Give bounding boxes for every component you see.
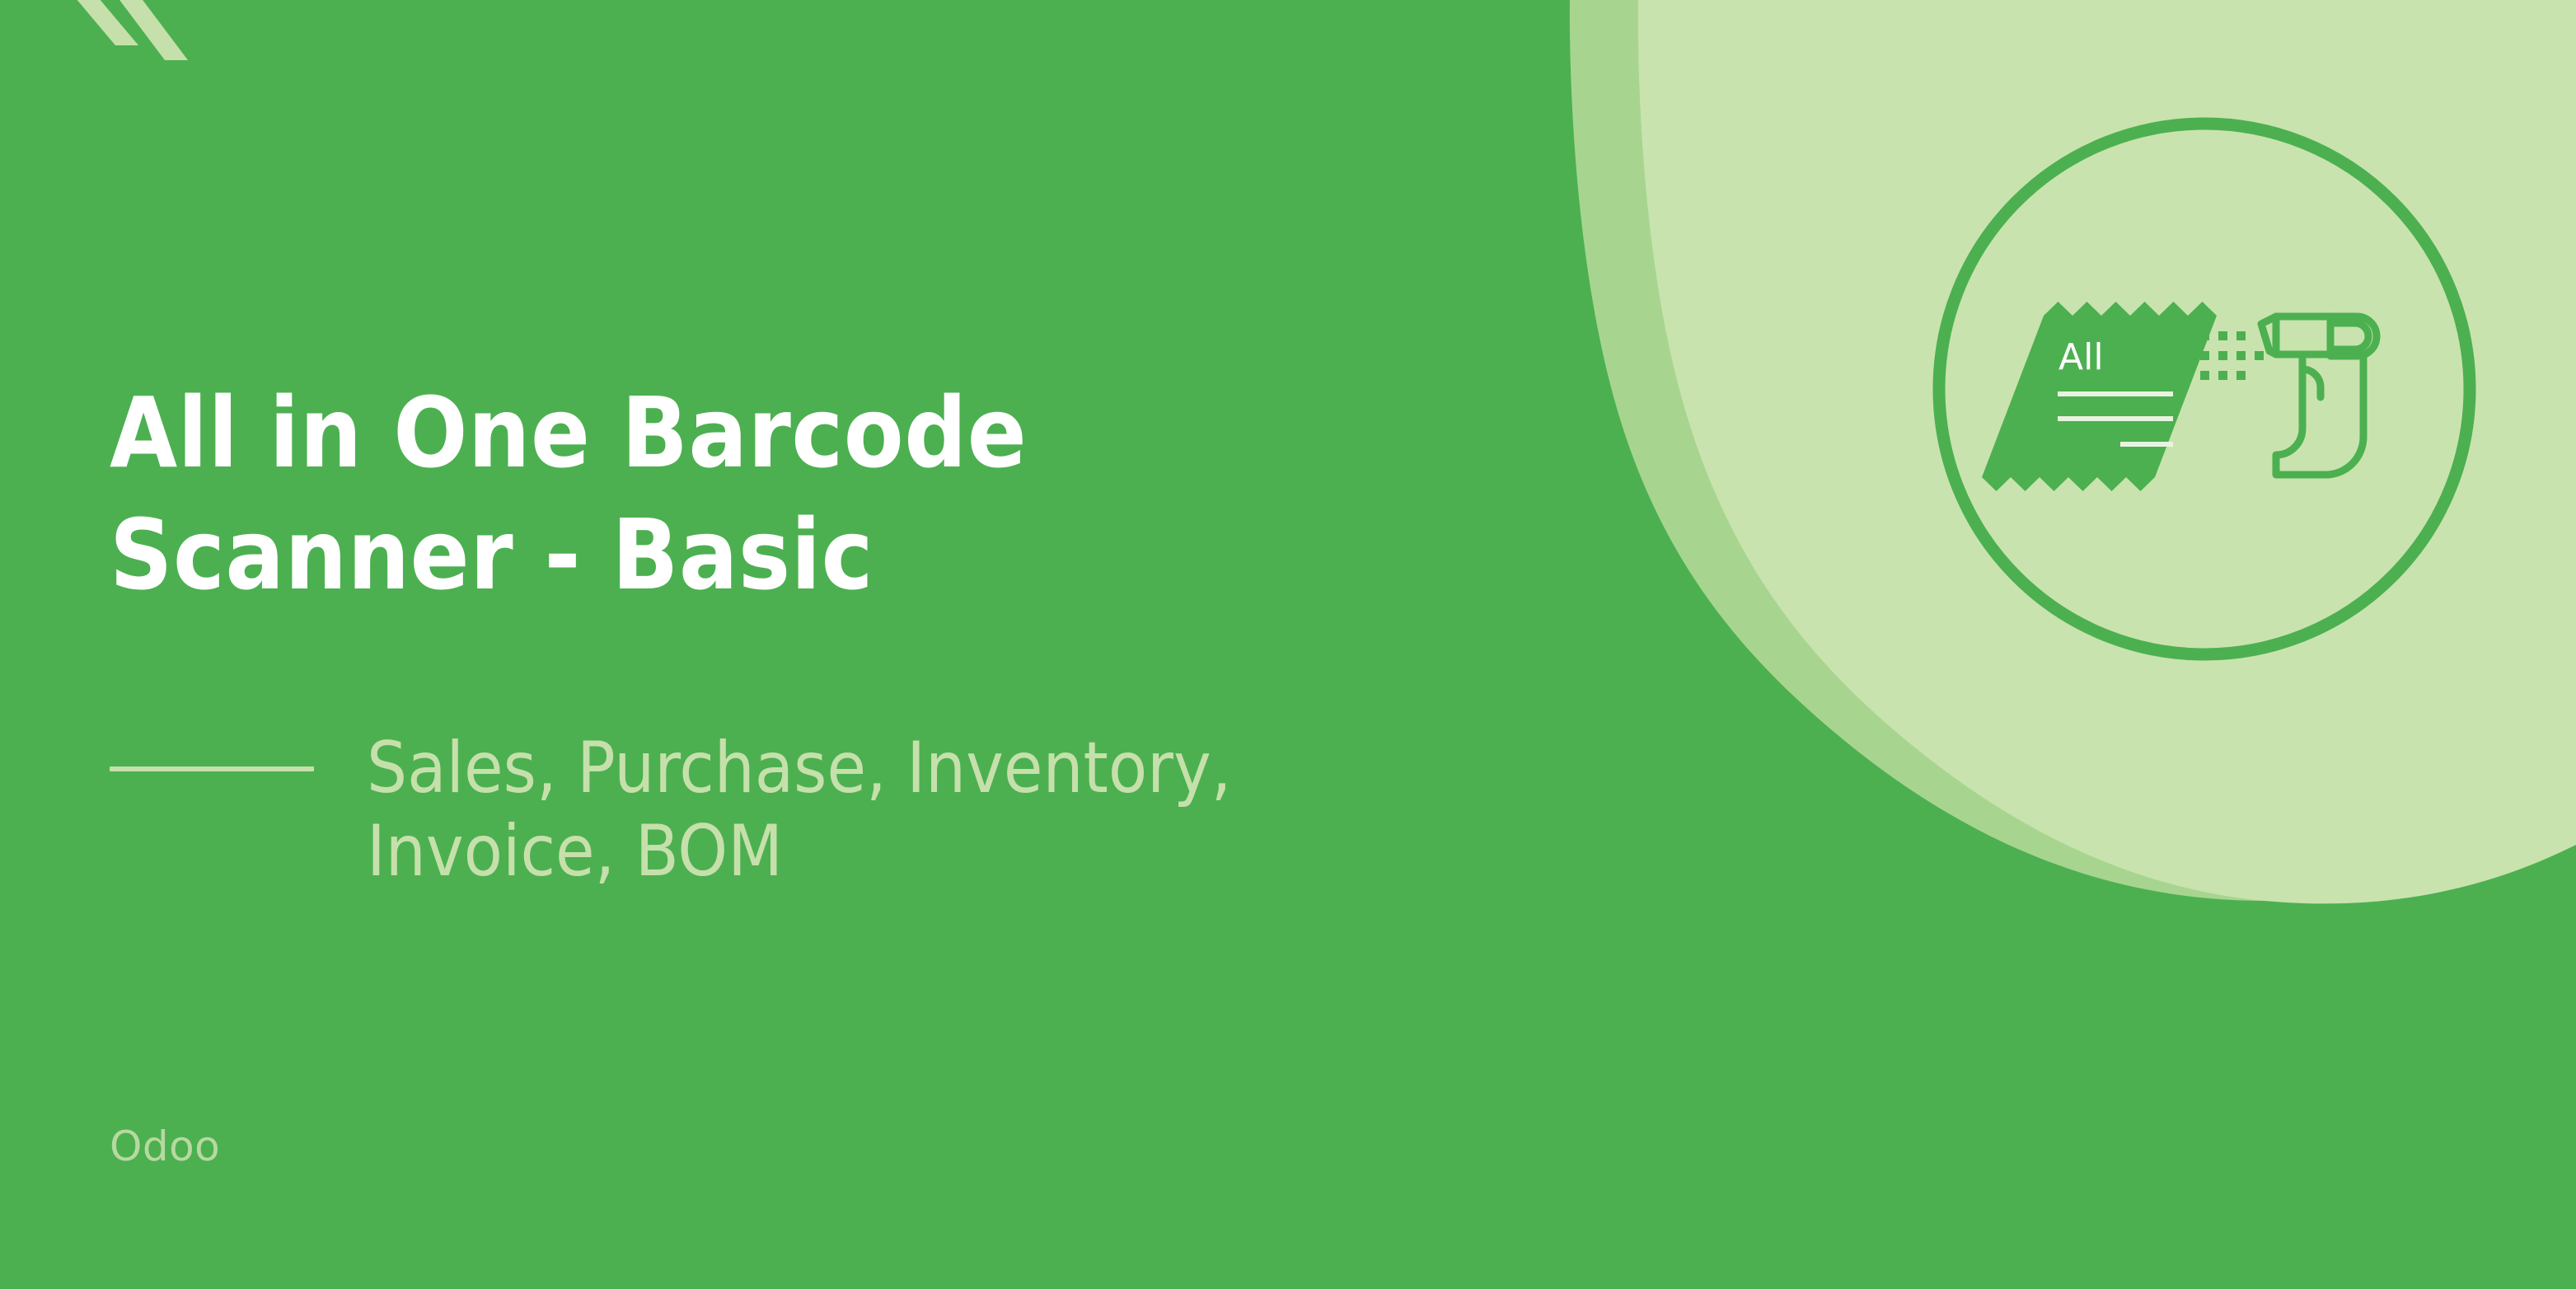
- app-banner: All in One Barcode Scanner - Basic Sales…: [0, 0, 2576, 1289]
- page-title: All in One Barcode Scanner - Basic: [110, 373, 1395, 616]
- banner-content: All in One Barcode Scanner - Basic Sales…: [110, 0, 1675, 1289]
- receipt-label: All: [2058, 336, 2104, 378]
- subtitle-row: Sales, Purchase, Inventory, Invoice, BOM: [110, 727, 1609, 894]
- subtitle-divider: [110, 766, 314, 771]
- brand-label: Odoo: [110, 1123, 220, 1170]
- receipt-icon: All: [1982, 302, 2217, 491]
- barcode-scanner-gun-icon: [2261, 316, 2377, 475]
- page-subtitle: Sales, Purchase, Inventory, Invoice, BOM: [367, 727, 1609, 894]
- barcode-scanner-receipt-icon: All: [1920, 107, 2489, 676]
